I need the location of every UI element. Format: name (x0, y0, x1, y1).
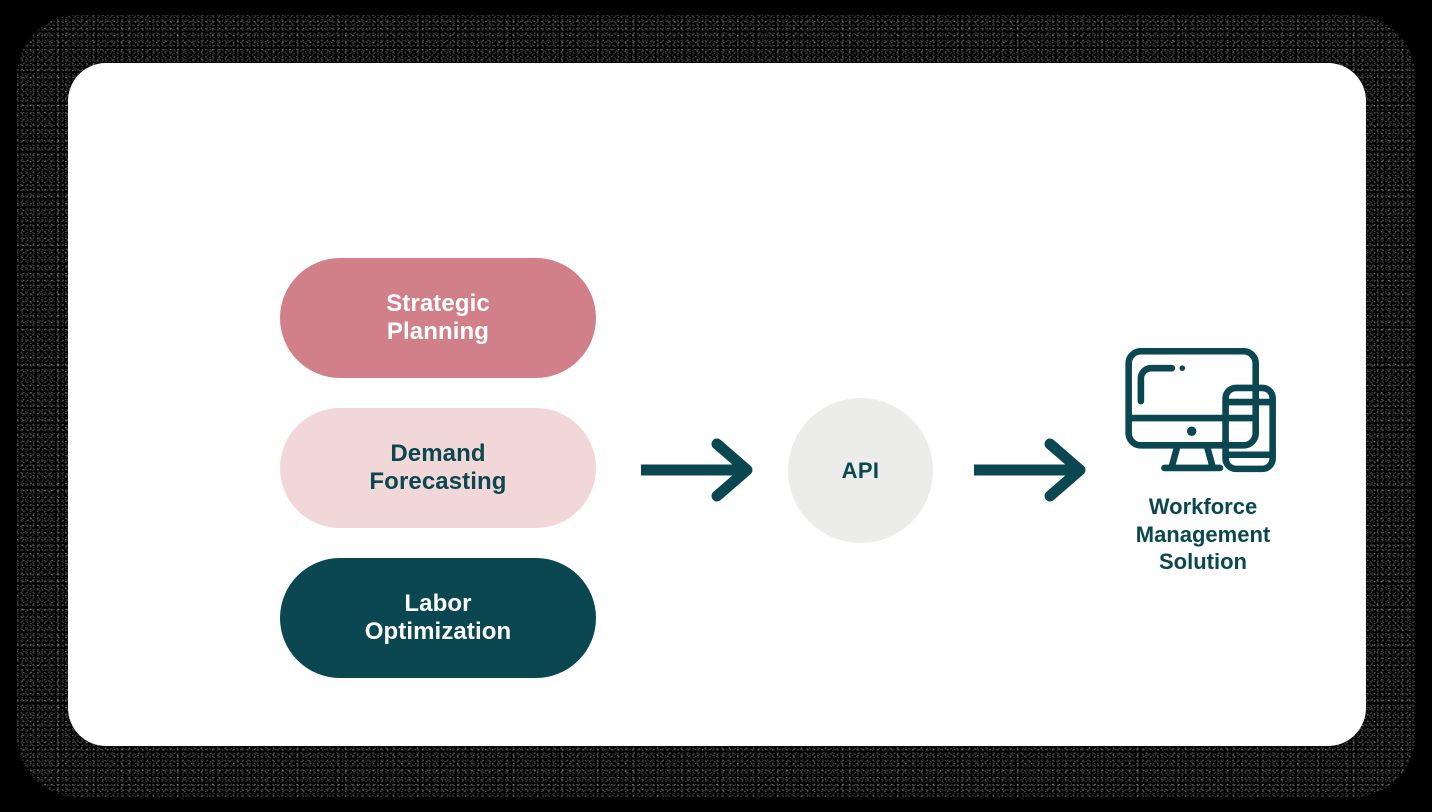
input-node-labor-optimization[interactable]: Labor Optimization (280, 558, 596, 678)
output-node-workforce-management-solution[interactable]: Workforce Management Solution (1096, 341, 1310, 576)
content-card: Strategic Planning Demand Forecasting La… (68, 63, 1366, 746)
arrow-right-icon (639, 438, 753, 502)
input-node-demand-forecasting[interactable]: Demand Forecasting (280, 408, 596, 528)
api-hub-node[interactable]: API (788, 398, 933, 543)
input-node-label: Demand Forecasting (369, 440, 506, 496)
input-node-strategic-planning[interactable]: Strategic Planning (280, 258, 596, 378)
desktop-and-mobile-devices-icon (1123, 341, 1283, 481)
arrow-right-icon (972, 438, 1086, 502)
input-node-label: Labor Optimization (365, 590, 512, 646)
api-hub-label: API (842, 458, 880, 484)
input-node-label: Strategic Planning (386, 290, 490, 346)
output-node-label: Workforce Management Solution (1136, 493, 1270, 576)
diagram-canvas: Strategic Planning Demand Forecasting La… (0, 0, 1432, 812)
